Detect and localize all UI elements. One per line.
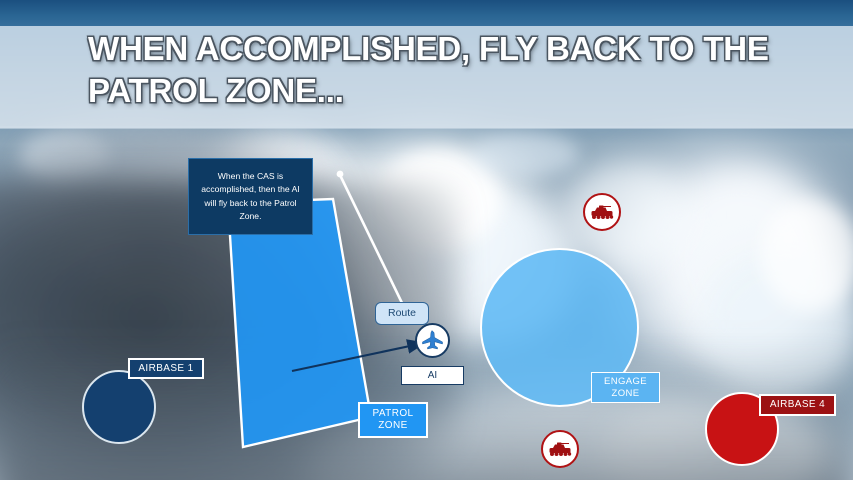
engage-zone-label-line2: ZONE	[612, 388, 640, 399]
route-label[interactable]: Route	[375, 302, 429, 325]
callout-textbox: When the CAS is accomplished, then the A…	[188, 158, 313, 235]
callout-text: When the CAS is accomplished, then the A…	[195, 170, 306, 223]
ai-unit-label[interactable]: AI	[401, 366, 464, 385]
tank-icon	[590, 204, 615, 220]
airbase-4-label[interactable]: AIRBASE 4	[759, 394, 836, 416]
patrol-zone-label-line2: ZONE	[378, 420, 407, 432]
presentation-slide: WHEN ACCOMPLISHED, FLY BACK TO THE PATRO…	[0, 0, 853, 480]
ai-aircraft-marker[interactable]	[415, 323, 450, 358]
tank-icon	[548, 441, 573, 457]
airbase-1-circle[interactable]	[82, 370, 156, 444]
engage-zone-label-line1: ENGAGE	[604, 376, 647, 387]
patrol-zone-label-line1: PATROL	[373, 408, 414, 420]
ground-target-marker-1[interactable]	[583, 193, 621, 231]
airbase-1-label[interactable]: AIRBASE 1	[128, 358, 204, 379]
fighter-jet-icon	[420, 330, 445, 351]
patrol-zone-label[interactable]: PATROL ZONE	[358, 402, 428, 438]
engage-zone-label[interactable]: ENGAGE ZONE	[591, 372, 660, 403]
ground-target-marker-2[interactable]	[541, 430, 579, 468]
